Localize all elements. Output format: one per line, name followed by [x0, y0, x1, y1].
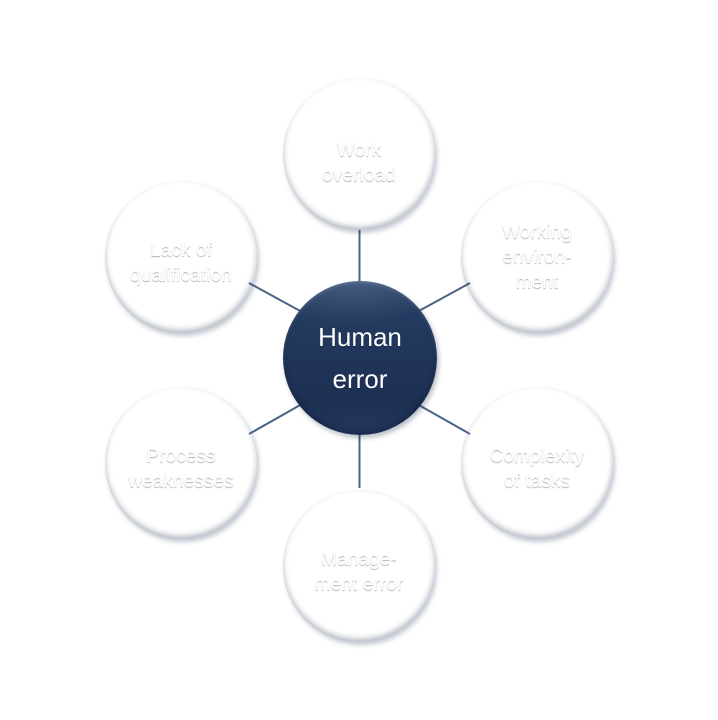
node-working-environment[interactable]: Workingenviron-ment: [461, 181, 613, 333]
node-complexity-of-tasks-label: Complexityof tasks: [480, 444, 595, 494]
node-human-error-label: Humanerror: [318, 316, 402, 400]
connector-hub-to-complexity-of-tasks: [417, 404, 470, 434]
node-work-overload-label: Workoverload: [312, 138, 406, 188]
connector-hub-to-process-weaknesses: [249, 404, 302, 434]
node-human-error-hub[interactable]: Humanerror: [283, 281, 437, 435]
node-lack-of-qualification[interactable]: Lack ofqualification: [105, 181, 257, 333]
connector-hub-to-lack-of-qualification: [249, 283, 302, 312]
node-working-environment-label: Workingenviron-ment: [492, 220, 582, 295]
connector-hub-to-working-environment: [417, 283, 470, 312]
node-management-error-label: Manage-ment error: [305, 547, 414, 597]
node-process-weaknesses[interactable]: Processweaknesses: [105, 387, 257, 539]
node-lack-of-qualification-label: Lack ofqualification: [120, 238, 242, 288]
node-complexity-of-tasks[interactable]: Complexityof tasks: [461, 387, 613, 539]
diagram-canvas: Workoverload Workingenviron-ment Complex…: [0, 0, 718, 720]
node-process-weaknesses-label: Processweaknesses: [118, 444, 244, 494]
node-management-error[interactable]: Manage-ment error: [283, 490, 435, 642]
node-work-overload[interactable]: Workoverload: [283, 78, 435, 230]
